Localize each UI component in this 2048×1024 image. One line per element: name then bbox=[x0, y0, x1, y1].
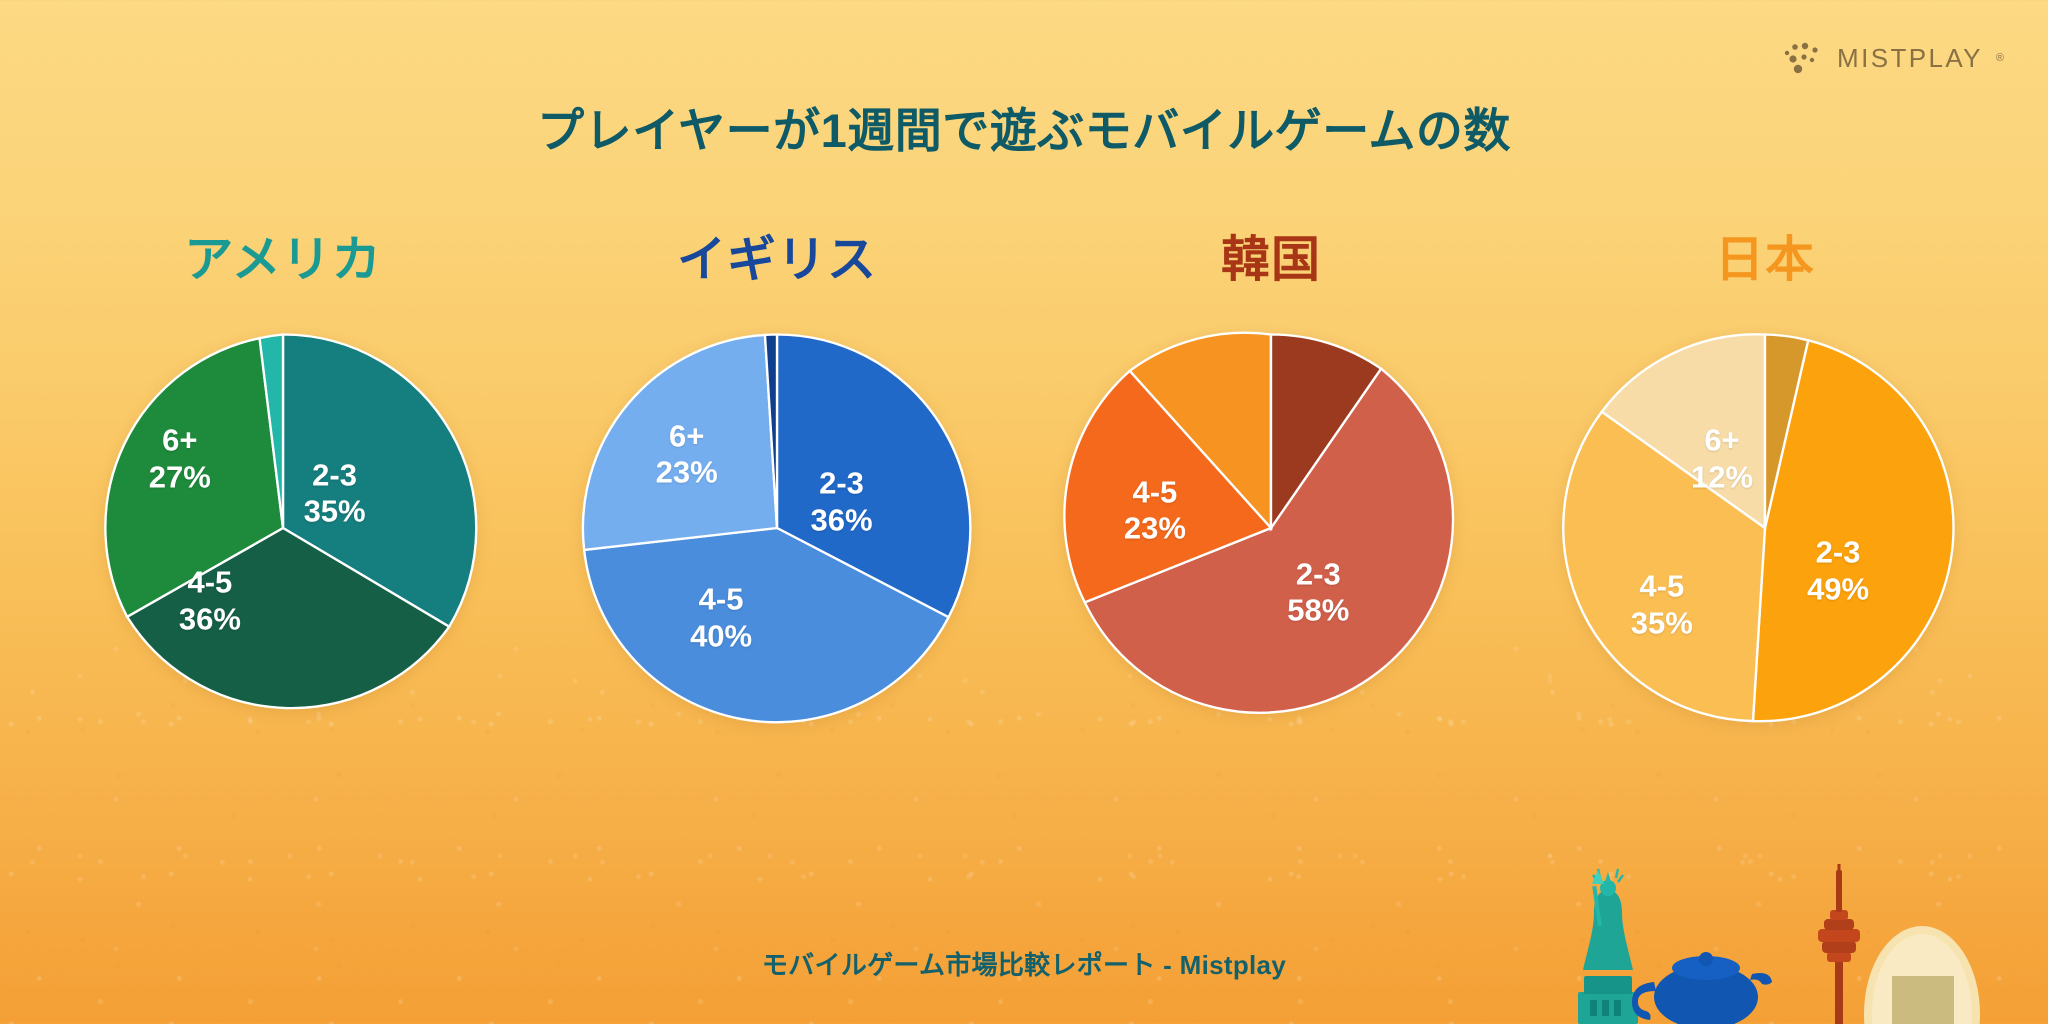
footer-caption: モバイルゲーム市場比較レポート - Mistplay bbox=[0, 945, 2048, 982]
chart-japan: 日本 2-3 49% 4-5 35% 6+ 12% bbox=[1545, 220, 1985, 743]
chart-america: アメリカ 2-3 35% 4-5 36% 6+ 27% bbox=[63, 220, 503, 743]
brand-name: MISTPLAY bbox=[1837, 43, 1983, 74]
pie-america: 2-3 35% 4-5 36% 6+ 27% bbox=[68, 313, 498, 743]
landmark-illustrations bbox=[1554, 864, 2024, 1024]
chart-title-japan: 日本 bbox=[1715, 220, 1815, 291]
chart-uk: イギリス 2-3 36% 4-5 40% 6+ 23% bbox=[557, 220, 997, 743]
registered-mark: ® bbox=[1996, 52, 2004, 64]
pie-japan: 2-3 49% 4-5 35% 6+ 12% bbox=[1550, 313, 1980, 743]
pie-slice-6-plus bbox=[583, 335, 777, 550]
chart-title-america: アメリカ bbox=[184, 220, 382, 291]
chart-korea: 韓国 2-3 58% 4-5 23% bbox=[1051, 220, 1491, 743]
chart-title-korea: 韓国 bbox=[1221, 220, 1321, 291]
mistplay-logo: MISTPLAY ® bbox=[1782, 40, 2004, 76]
chart-title-uk: イギリス bbox=[677, 220, 877, 291]
pie-chart-row: アメリカ 2-3 35% 4-5 36% 6+ 27% bbox=[0, 220, 2048, 743]
pie-korea: 2-3 58% 4-5 23% bbox=[1056, 313, 1486, 743]
mistplay-dots-logo-icon bbox=[1782, 40, 1824, 76]
n-seoul-tower-icon bbox=[1818, 864, 1860, 1024]
pie-uk: 2-3 36% 4-5 40% 6+ 23% bbox=[562, 313, 992, 743]
page-title: プレイヤーが1週間で遊ぶモバイルゲームの数 bbox=[0, 92, 2048, 161]
